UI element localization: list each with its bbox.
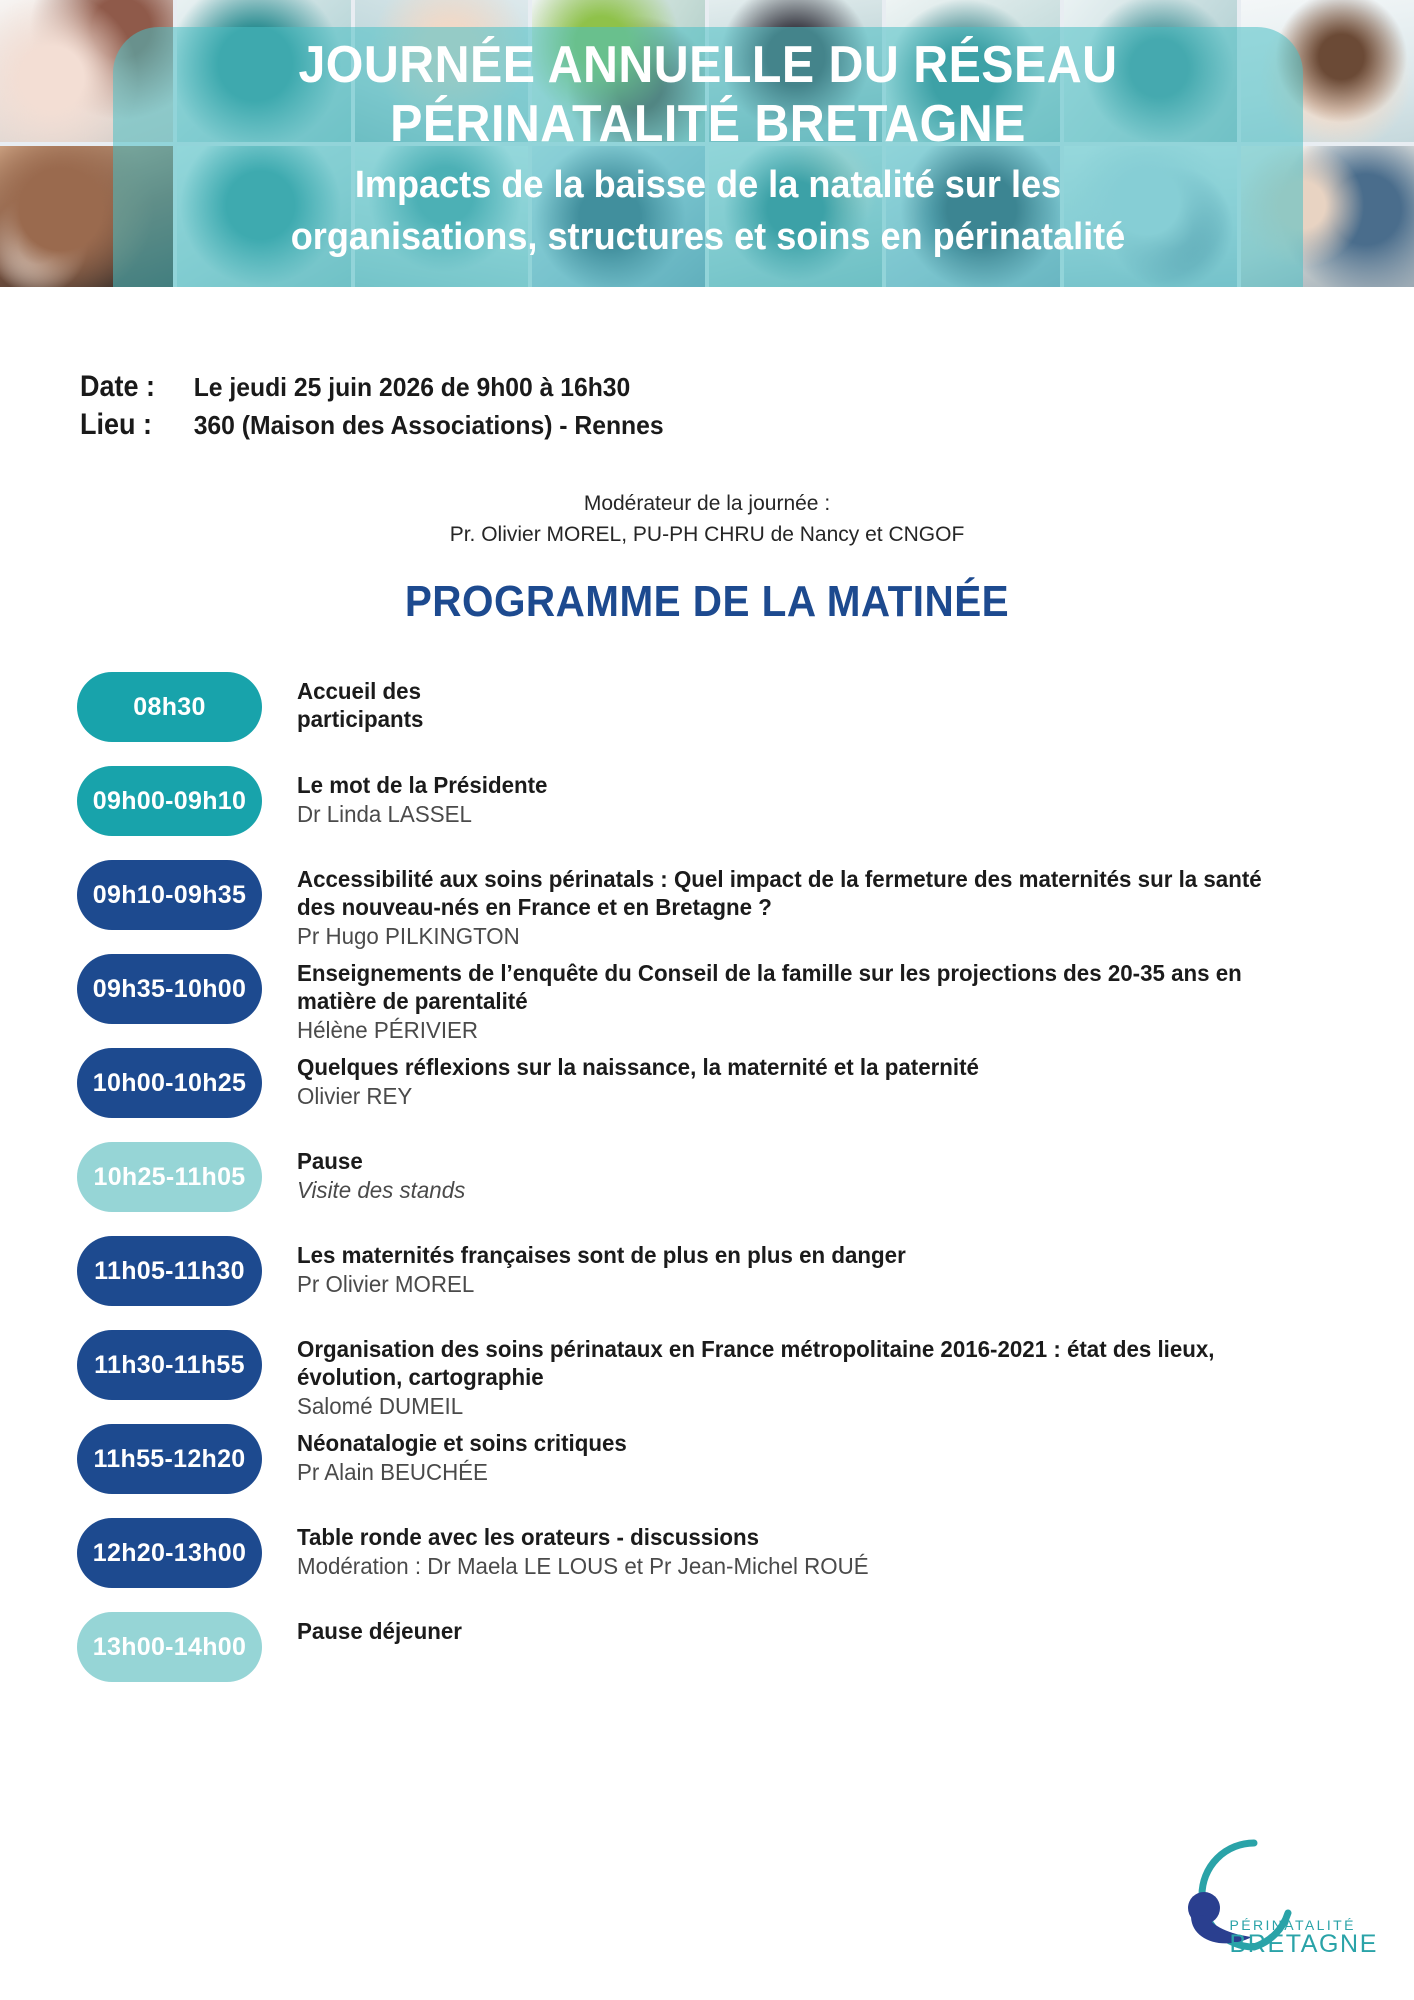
schedule-row: 09h00-09h10Le mot de la PrésidenteDr Lin… bbox=[0, 766, 1414, 836]
session-time-pill: 11h05-11h30 bbox=[77, 1236, 262, 1306]
program-title: PROGRAMME DE LA MATINÉE bbox=[57, 577, 1358, 627]
session-time-pill: 08h30 bbox=[77, 672, 262, 742]
session-text: Accueil desparticipants bbox=[297, 672, 427, 733]
session-text: Néonatalogie et soins critiquesPr Alain … bbox=[297, 1424, 637, 1487]
date-label: Date : bbox=[80, 370, 177, 404]
session-time-pill: 10h00-10h25 bbox=[77, 1048, 262, 1118]
session-speaker: Hélène PÉRIVIER bbox=[297, 1015, 1277, 1045]
session-title: Organisation des soins périnataux en Fra… bbox=[297, 1335, 1277, 1391]
banner-title-line1: JOURNÉE ANNUELLE DU RÉSEAU bbox=[155, 36, 1262, 95]
session-time-pill: 11h30-11h55 bbox=[77, 1330, 262, 1400]
session-text: Organisation des soins périnataux en Fra… bbox=[297, 1330, 1307, 1421]
schedule-row: 10h00-10h25Quelques réflexions sur la na… bbox=[0, 1048, 1414, 1118]
session-speaker: Pr Olivier MOREL bbox=[297, 1269, 906, 1299]
event-info: Date : Le jeudi 25 juin 2026 de 9h00 à 1… bbox=[80, 370, 689, 442]
session-title: Quelques réflexions sur la naissance, la… bbox=[297, 1053, 979, 1081]
session-text: Le mot de la PrésidenteDr Linda LASSEL bbox=[297, 766, 555, 829]
schedule-row: 12h20-13h00Table ronde avec les orateurs… bbox=[0, 1518, 1414, 1588]
session-time-pill: 10h25-11h05 bbox=[77, 1142, 262, 1212]
moderator-block: Modérateur de la journée : Pr. Olivier M… bbox=[0, 488, 1414, 550]
date-value: Le jeudi 25 juin 2026 de 9h00 à 16h30 bbox=[188, 370, 664, 404]
session-speaker: Salomé DUMEIL bbox=[297, 1391, 1277, 1421]
poster-page: JOURNÉE ANNUELLE DU RÉSEAU PÉRINATALITÉ … bbox=[0, 0, 1414, 2000]
session-time-pill: 09h10-09h35 bbox=[77, 860, 262, 930]
session-speaker: Modération : Dr Maela LE LOUS et Pr Jean… bbox=[297, 1551, 869, 1581]
session-title: Accueil desparticipants bbox=[297, 677, 423, 733]
session-title: Pause bbox=[297, 1147, 465, 1175]
session-time-pill: 09h35-10h00 bbox=[77, 954, 262, 1024]
session-text: Les maternités françaises sont de plus e… bbox=[297, 1236, 925, 1299]
session-title: Enseignements de l’enquête du Conseil de… bbox=[297, 959, 1277, 1015]
session-speaker: Olivier REY bbox=[297, 1081, 979, 1111]
session-text: Accessibilité aux soins périnatals : Que… bbox=[297, 860, 1307, 951]
schedule-row: 09h35-10h00Enseignements de l’enquête du… bbox=[0, 954, 1414, 1045]
session-title: Accessibilité aux soins périnatals : Que… bbox=[297, 865, 1277, 921]
banner-subtitle-line1: Impacts de la baisse de la natalité sur … bbox=[143, 163, 1274, 208]
session-speaker: Dr Linda LASSEL bbox=[297, 799, 547, 829]
session-title: Les maternités françaises sont de plus e… bbox=[297, 1241, 906, 1269]
session-speaker: Pr Alain BEUCHÉE bbox=[297, 1457, 627, 1487]
schedule-row: 10h25-11h05PauseVisite des stands bbox=[0, 1142, 1414, 1212]
session-text: Table ronde avec les orateurs - discussi… bbox=[297, 1518, 886, 1581]
logo-perinatalite-bretagne: PÉRINATALITÉ BRETAGNE bbox=[1136, 1825, 1386, 1965]
session-speaker: Pr Hugo PILKINGTON bbox=[297, 921, 1277, 951]
session-title: Le mot de la Présidente bbox=[297, 771, 547, 799]
banner-title-line2: PÉRINATALITÉ BRETAGNE bbox=[155, 95, 1262, 154]
schedule-row: 13h00-14h00Pause déjeuner bbox=[0, 1612, 1414, 1682]
header-banner: JOURNÉE ANNUELLE DU RÉSEAU PÉRINATALITÉ … bbox=[0, 0, 1414, 287]
moderator-label: Modérateur de la journée : bbox=[0, 488, 1414, 519]
place-value: 360 (Maison des Associations) - Rennes bbox=[188, 408, 664, 442]
schedule-row: 09h10-09h35Accessibilité aux soins périn… bbox=[0, 860, 1414, 951]
schedule-row: 11h30-11h55Organisation des soins périna… bbox=[0, 1330, 1414, 1421]
schedule-row: 11h05-11h30Les maternités françaises son… bbox=[0, 1236, 1414, 1306]
session-text: Quelques réflexions sur la naissance, la… bbox=[297, 1048, 1000, 1111]
session-time-pill: 12h20-13h00 bbox=[77, 1518, 262, 1588]
session-text: Pause déjeuner bbox=[297, 1612, 467, 1645]
logo-line-bretagne: BRETAGNE bbox=[1230, 1932, 1378, 1957]
session-title: Pause déjeuner bbox=[297, 1617, 462, 1645]
session-text: PauseVisite des stands bbox=[297, 1142, 470, 1205]
session-title: Néonatalogie et soins critiques bbox=[297, 1429, 627, 1457]
banner-subtitle-line2: organisations, structures et soins en pé… bbox=[143, 215, 1274, 260]
session-speaker: Visite des stands bbox=[297, 1175, 465, 1205]
moderator-name: Pr. Olivier MOREL, PU-PH CHRU de Nancy e… bbox=[0, 519, 1414, 550]
session-title: Table ronde avec les orateurs - discussi… bbox=[297, 1523, 869, 1551]
session-time-pill: 13h00-14h00 bbox=[77, 1612, 262, 1682]
schedule-row: 08h30Accueil desparticipants bbox=[0, 672, 1414, 742]
session-time-pill: 11h55-12h20 bbox=[77, 1424, 262, 1494]
logo-wordmark: PÉRINATALITÉ BRETAGNE bbox=[1230, 1918, 1378, 1957]
banner-text-block: JOURNÉE ANNUELLE DU RÉSEAU PÉRINATALITÉ … bbox=[113, 36, 1303, 260]
session-time-pill: 09h00-09h10 bbox=[77, 766, 262, 836]
schedule-row: 11h55-12h20Néonatalogie et soins critiqu… bbox=[0, 1424, 1414, 1494]
session-text: Enseignements de l’enquête du Conseil de… bbox=[297, 954, 1307, 1045]
place-label: Lieu : bbox=[80, 408, 177, 442]
